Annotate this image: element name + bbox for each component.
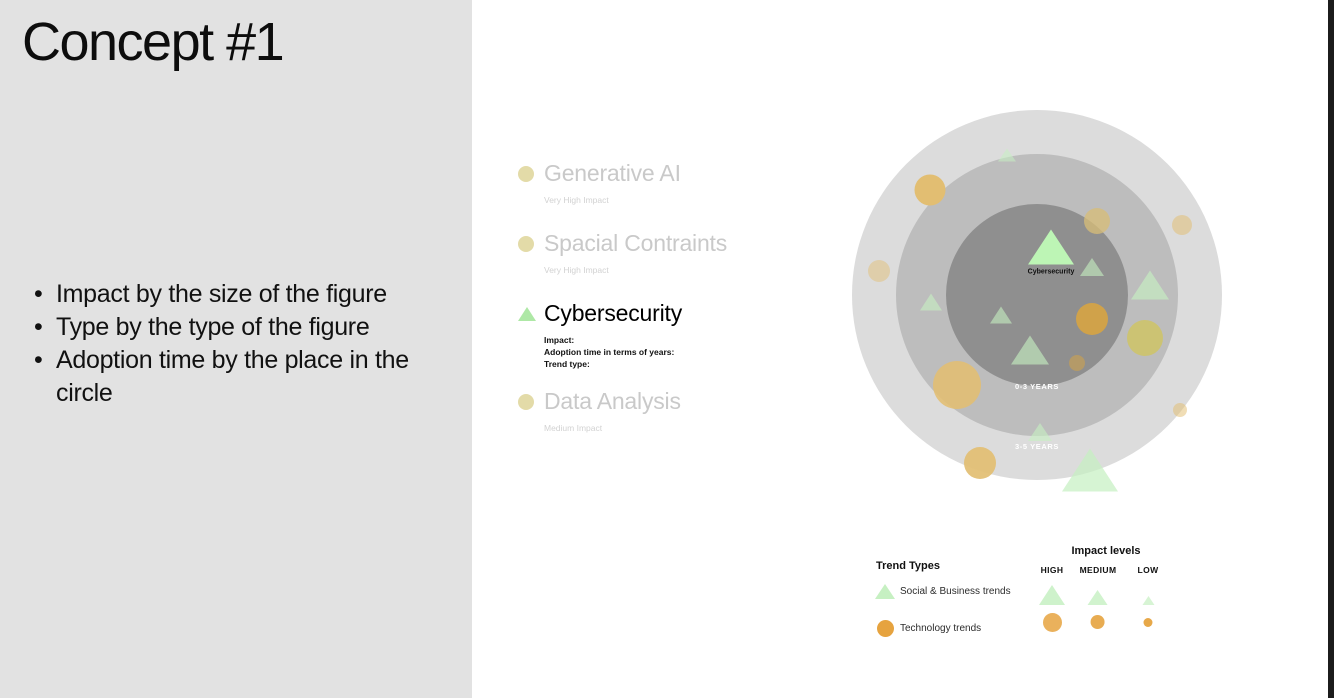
impact-level-header: HIGH <box>1039 565 1065 575</box>
trend-node[interactable] <box>1069 355 1085 371</box>
legend-trend-type-row: Technology trends <box>870 620 981 637</box>
chart-legend: Trend Types Impact levels Social & Busin… <box>876 540 1236 660</box>
right-edge-strip <box>1328 0 1334 698</box>
legend-trend-type-label: Technology trends <box>900 623 981 634</box>
impact-triangle-sample <box>1039 575 1065 605</box>
trend-list-item-cybersecurity[interactable]: CybersecurityImpact:Adoption time in ter… <box>518 300 778 370</box>
ring-label: 3-5 YEARS <box>1015 442 1059 451</box>
circle-marker-icon <box>518 394 544 410</box>
trend-node[interactable] <box>1131 271 1169 300</box>
impact-level-column: MEDIUM <box>1080 565 1117 639</box>
trend-item-label: Generative AI <box>544 160 681 187</box>
trend-node[interactable] <box>920 294 942 311</box>
selected-node-label: Cybersecurity <box>1028 269 1075 276</box>
impact-triangle-sample <box>1080 575 1117 605</box>
trend-node[interactable] <box>1173 403 1187 417</box>
trend-node[interactable] <box>1028 423 1052 441</box>
bullet-list: •Impact by the size of the figure•Type b… <box>34 278 444 410</box>
trend-node[interactable] <box>868 260 890 282</box>
trend-detail-line: Adoption time in terms of years: <box>544 346 778 358</box>
trend-node[interactable] <box>1062 449 1118 492</box>
bullet-item: •Impact by the size of the figure <box>34 278 444 311</box>
radial-diagram: 0-3 YEARS3-5 YEARS5-10 YEARS Cybersecuri… <box>852 110 1232 490</box>
bullet-text: Type by the type of the figure <box>56 311 444 344</box>
trend-item-details: Very High Impact <box>544 194 778 206</box>
trend-node[interactable] <box>998 149 1016 162</box>
trend-list-item-spacial-contraints[interactable]: Spacial ContraintsVery High Impact <box>518 230 778 276</box>
trend-node[interactable] <box>1172 215 1192 235</box>
triangle-marker-icon <box>518 307 544 321</box>
legend-trend-type-row: Social & Business trends <box>870 584 1011 599</box>
ring-label: 5-10 YEARS <box>1013 483 1062 492</box>
trend-item-label: Cybersecurity <box>544 300 682 327</box>
left-panel: Concept #1 •Impact by the size of the fi… <box>0 0 472 698</box>
trend-detail-line: Impact: <box>544 334 778 346</box>
impact-level-column: HIGH <box>1039 565 1065 639</box>
bullet-item: •Adoption time by the place in the circl… <box>34 344 444 410</box>
circle-swatch-icon <box>870 620 900 637</box>
circle-marker-icon <box>518 236 544 252</box>
bullet-glyph: • <box>34 311 56 344</box>
bullet-text: Impact by the size of the figure <box>56 278 444 311</box>
bullet-glyph: • <box>34 278 56 311</box>
trend-node[interactable] <box>964 447 996 479</box>
circle-marker-icon <box>518 166 544 182</box>
trend-node[interactable] <box>915 175 946 206</box>
impact-circle-sample <box>1039 605 1065 639</box>
trend-list-item-data-analysis[interactable]: Data AnalysisMedium Impact <box>518 388 778 434</box>
trend-item-details: Medium Impact <box>544 422 778 434</box>
legend-trend-type-label: Social & Business trends <box>900 586 1011 597</box>
selected-trend-node[interactable]: Cybersecurity <box>1028 230 1074 265</box>
trend-node[interactable] <box>1076 303 1108 335</box>
trend-node[interactable] <box>1080 258 1104 276</box>
impact-level-header: MEDIUM <box>1080 565 1117 575</box>
impact-circle-sample <box>1137 605 1158 639</box>
bullet-glyph: • <box>34 344 56 377</box>
trend-detail-line: Very High Impact <box>544 194 778 206</box>
triangle-swatch-icon <box>870 584 900 599</box>
trend-item-details: Very High Impact <box>544 264 778 276</box>
trend-legend-list: Generative AIVery High ImpactSpacial Con… <box>518 160 778 458</box>
trend-item-label: Data Analysis <box>544 388 681 415</box>
trend-detail-line: Medium Impact <box>544 422 778 434</box>
diagram-stage: Generative AIVery High ImpactSpacial Con… <box>472 0 1328 698</box>
bullet-text: Adoption time by the place in the circle <box>56 344 444 410</box>
trend-node[interactable] <box>990 307 1012 324</box>
impact-levels-title: Impact levels <box>1071 545 1140 557</box>
impact-circle-sample <box>1080 605 1117 639</box>
bullet-item: •Type by the type of the figure <box>34 311 444 344</box>
impact-triangle-sample <box>1137 575 1158 605</box>
trend-item-details: Impact:Adoption time in terms of years:T… <box>544 334 778 370</box>
page-title: Concept #1 <box>22 10 283 75</box>
trend-list-item-generative-ai[interactable]: Generative AIVery High Impact <box>518 160 778 206</box>
trend-node[interactable] <box>933 361 981 409</box>
impact-level-header: LOW <box>1137 565 1158 575</box>
trend-detail-line: Very High Impact <box>544 264 778 276</box>
impact-level-column: LOW <box>1137 565 1158 639</box>
trend-item-label: Spacial Contraints <box>544 230 727 257</box>
trend-node[interactable] <box>1127 320 1163 356</box>
trend-node[interactable] <box>1011 336 1049 365</box>
ring-label: 0-3 YEARS <box>1015 382 1059 391</box>
trend-detail-line: Trend type: <box>544 358 778 370</box>
slide-canvas: Concept #1 •Impact by the size of the fi… <box>0 0 1334 698</box>
trend-types-title: Trend Types <box>876 560 940 572</box>
trend-node[interactable] <box>1084 208 1110 234</box>
